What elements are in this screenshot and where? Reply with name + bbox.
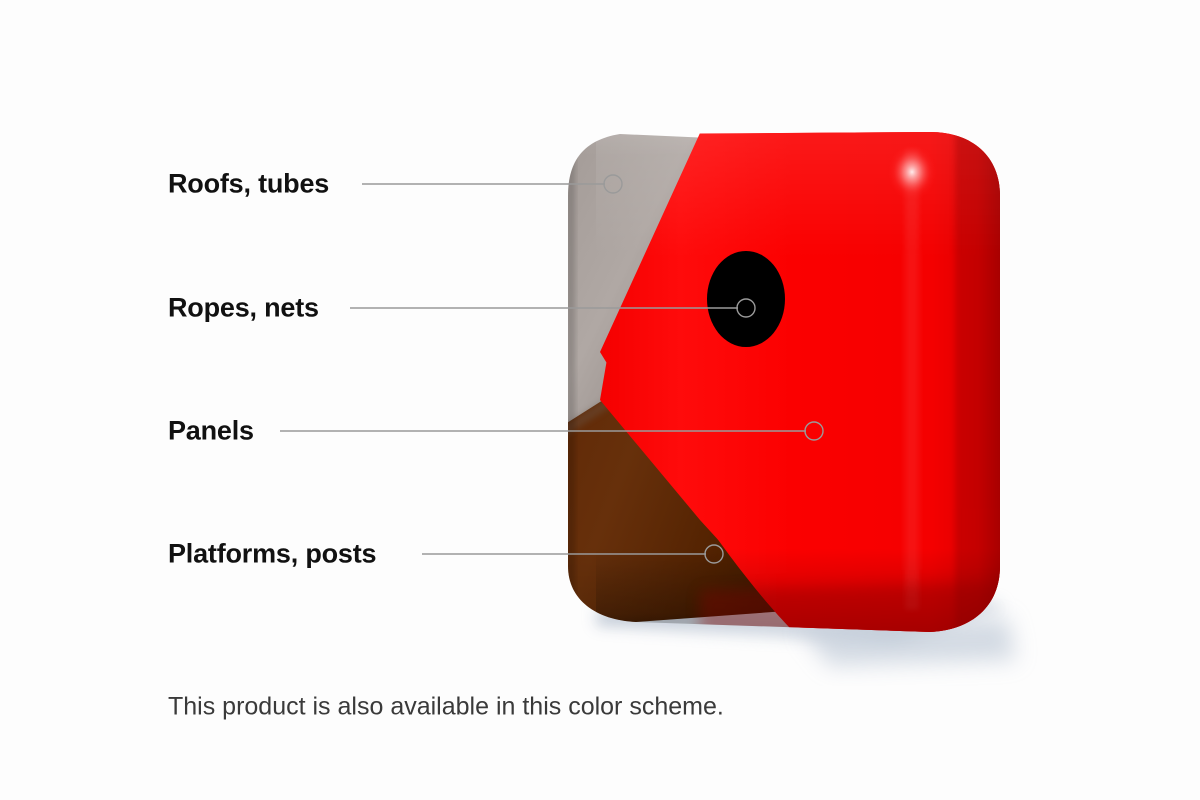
callout-leader-lines	[0, 0, 1200, 800]
callout-dot-platforms-posts[interactable]	[705, 545, 723, 563]
callout-dot-ropes-nets[interactable]	[737, 299, 755, 317]
product-color-scheme-figure: Roofs, tubes Ropes, nets Panels Platform…	[0, 0, 1200, 800]
callout-dot-panels[interactable]	[805, 422, 823, 440]
callout-dot-roofs-tubes[interactable]	[604, 175, 622, 193]
